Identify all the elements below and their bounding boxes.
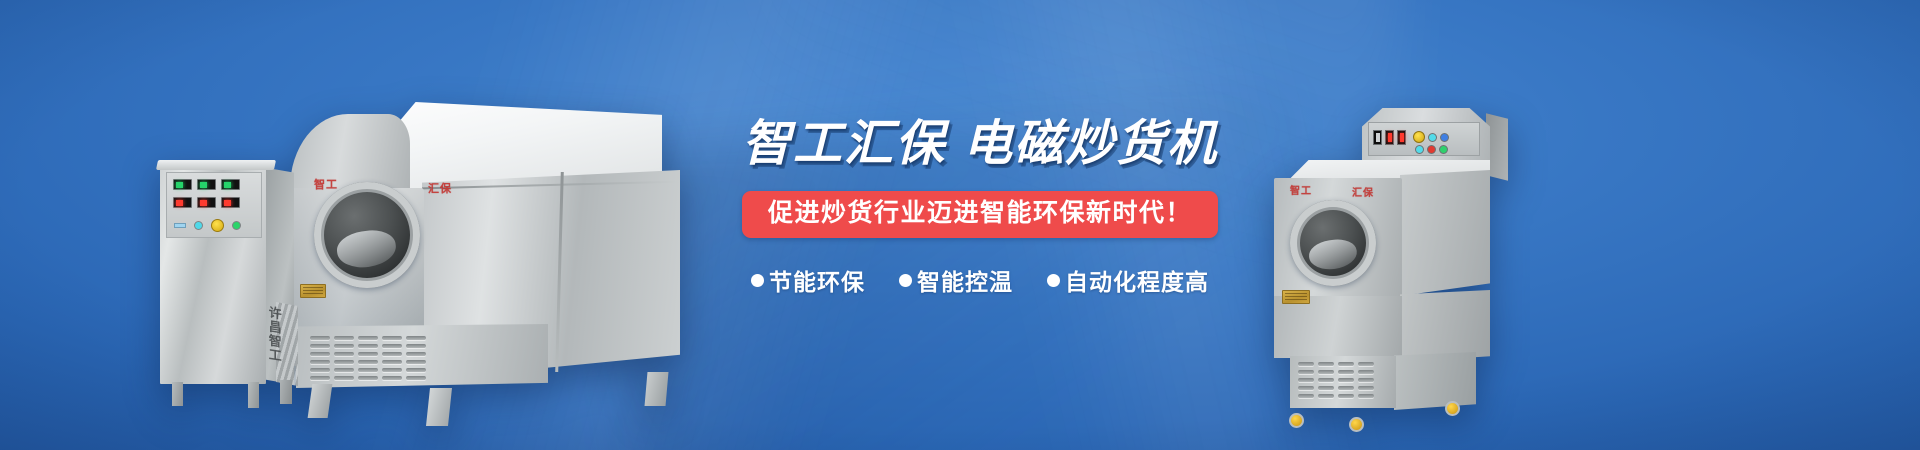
display-red-1 — [173, 197, 192, 208]
machine-leg-front-center — [426, 388, 452, 426]
cabinet-leg-2 — [248, 382, 259, 408]
indicator-cyan-button[interactable] — [194, 221, 203, 230]
brand-mark-left-2: 汇保 — [428, 180, 452, 196]
control-button-row[interactable] — [174, 219, 241, 232]
display-group-right — [1373, 130, 1406, 145]
machine-mid-body-right — [1274, 296, 1402, 358]
headline-brand: 智工汇保 — [742, 117, 946, 171]
control-panel-left — [166, 172, 262, 238]
roasting-machine-small: 智工 汇保 — [1268, 108, 1528, 423]
roasting-drum-opening — [314, 182, 420, 288]
led-row-2[interactable] — [1415, 145, 1448, 154]
slogan-text: 促进炒货行业迈进智能环保新时代！ — [768, 200, 1192, 228]
indicator-led-blue-1[interactable] — [1440, 133, 1449, 142]
brand-mark-right-2: 汇保 — [1352, 184, 1374, 199]
machine-lower-side-right — [1394, 352, 1476, 410]
indicator-led-green[interactable] — [1439, 145, 1448, 154]
display-green-3 — [221, 179, 240, 190]
brand-mark-left-1: 智工 — [314, 176, 338, 192]
feature-item-2: 智能控温 — [899, 263, 1013, 297]
emergency-stop-knob-right[interactable] — [1413, 131, 1425, 143]
promotional-banner: 智工 汇保 — [0, 0, 1920, 450]
bullet-dot-icon — [751, 274, 764, 287]
roasting-drum-opening-right — [1290, 200, 1376, 286]
headline-product: 电磁炒货机 — [963, 117, 1218, 171]
machine-mid-side-right — [1400, 290, 1490, 362]
slogan-ribbon: 促进炒货行业迈进智能环保新时代！ — [742, 191, 1218, 239]
banner-headline: 智工汇保电磁炒货机 — [690, 118, 1270, 171]
display-meter-2 — [1385, 130, 1394, 145]
display-red-2 — [197, 197, 216, 208]
display-row-upper — [173, 179, 240, 190]
machine-vent-grid-right — [1298, 362, 1374, 398]
panel-label-chip-1 — [174, 223, 186, 228]
knob-and-led-row-1[interactable] — [1413, 131, 1449, 143]
display-green-1 — [173, 179, 192, 190]
control-cabinet-top — [156, 160, 276, 170]
cabinet-brand-text: 许昌智工 — [267, 305, 281, 363]
machine-vent-grid — [310, 336, 426, 380]
control-panel-right — [1368, 122, 1480, 156]
machine-leg-rear-right — [645, 372, 669, 406]
cabinet-leg-3 — [280, 380, 292, 404]
caster-wheel-center — [1349, 417, 1364, 432]
indicator-led-cyan-1[interactable] — [1428, 133, 1437, 142]
cabinet-leg-1 — [172, 382, 183, 406]
roasting-machine-large: 智工 汇保 — [160, 96, 690, 416]
feature-label-2: 智能控温 — [917, 263, 1013, 297]
feature-label-3: 自动化程度高 — [1065, 263, 1209, 297]
feature-item-1: 节能环保 — [751, 263, 865, 297]
bullet-dot-icon — [899, 274, 912, 287]
display-row-lower — [173, 197, 240, 208]
banner-copy-block: 智工汇保电磁炒货机 促进炒货行业迈进智能环保新时代！ 节能环保 智能控温 自动化… — [690, 118, 1270, 297]
display-red-3 — [221, 197, 240, 208]
machine-upper-side-right — [1400, 170, 1490, 296]
indicator-green-button[interactable] — [232, 221, 241, 230]
display-green-2 — [197, 179, 216, 190]
indicator-led-red[interactable] — [1427, 145, 1436, 154]
bullet-dot-icon — [1047, 274, 1060, 287]
machine-nameplate-right — [1282, 290, 1310, 304]
feature-item-3: 自动化程度高 — [1047, 263, 1209, 297]
display-meter-3 — [1397, 130, 1406, 145]
display-meter-1 — [1373, 130, 1382, 145]
indicator-led-cyan-2[interactable] — [1415, 145, 1424, 154]
caster-wheel-left — [1289, 413, 1304, 428]
caster-wheel-right — [1445, 401, 1460, 416]
feature-list: 节能环保 智能控温 自动化程度高 — [690, 263, 1270, 297]
feature-label-1: 节能环保 — [769, 263, 865, 297]
machine-nameplate-left — [300, 284, 326, 298]
machine-leg-front-left — [308, 384, 333, 418]
brand-mark-right-1: 智工 — [1290, 182, 1312, 197]
emergency-stop-knob[interactable] — [211, 219, 224, 232]
